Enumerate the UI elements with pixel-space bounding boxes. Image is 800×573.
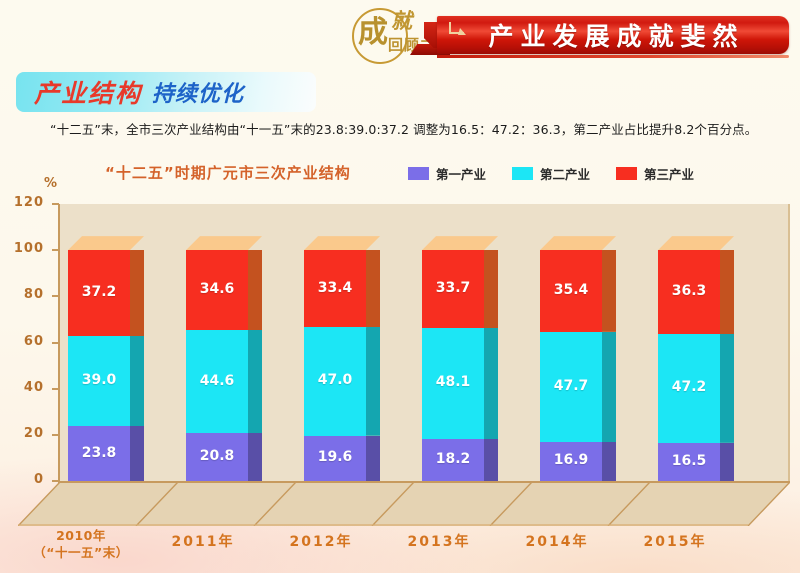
stacked-bar: 16.947.735.4: [540, 204, 602, 481]
bar-segment-side-face: [248, 250, 262, 330]
bar-segment: 39.0: [68, 336, 130, 426]
bar-segment-side-face: [720, 334, 734, 443]
bar-segment: 44.6: [186, 330, 248, 433]
bar-segment-side-face: [484, 250, 498, 328]
bar-value-label: 19.6: [304, 449, 366, 465]
y-axis-tick-mark: [52, 434, 59, 436]
legend-swatch-primary-industry: [408, 167, 429, 180]
top-banner: 成 就 回顾之二 产业发展成就斐然: [0, 0, 800, 70]
stacked-bar: 18.248.133.7: [422, 204, 484, 481]
y-axis-tick-label: 120: [0, 195, 44, 210]
bar-segment-side: [602, 442, 616, 481]
ribbon-underline: [437, 55, 789, 58]
legend-swatch-tertiary-industry: [616, 167, 637, 180]
bar-value-label: 33.7: [422, 280, 484, 296]
bar-value-label: 47.2: [658, 379, 720, 395]
bar-value-label: 47.7: [540, 378, 602, 394]
bar-segment-side: [130, 336, 144, 426]
bar-segment-side: [484, 250, 498, 328]
bar-segment-side: [248, 330, 262, 433]
chart-legend: 第一产业 第二产业 第三产业: [408, 164, 694, 183]
bar-segment-side: [484, 328, 498, 439]
bar-segment-side: [720, 250, 734, 334]
bar-segment-side-face: [484, 439, 498, 481]
chart-title: “十二五”时期广元市三次产业结构: [105, 162, 351, 183]
bar-top-cap: [68, 250, 130, 264]
body-paragraph: “十二五”末，全市三次产业结构由“十一五”末的23.8:39.0:37.2 调整…: [24, 120, 780, 140]
bar-value-label: 44.6: [186, 373, 248, 389]
section-title-primary: 产业结构: [34, 74, 142, 110]
y-axis-tick-mark: [52, 480, 59, 482]
bar-segment-side-face: [366, 436, 380, 481]
y-axis-tick-label: 0: [0, 472, 44, 487]
bar-top-cap: [658, 250, 720, 264]
bar-value-label: 35.4: [540, 282, 602, 298]
section-header-text: 产业结构 持续优化: [34, 78, 244, 106]
legend-label: 第三产业: [644, 164, 694, 183]
y-axis-tick-label: 60: [0, 334, 44, 349]
bar-segment-side: [130, 250, 144, 336]
bar-segment-side-face: [366, 250, 380, 327]
bar-segment: 47.7: [540, 332, 602, 442]
bar-value-label: 36.3: [658, 283, 720, 299]
stacked-bar: 16.547.236.3: [658, 204, 720, 481]
bar-value-label: 16.5: [658, 453, 720, 469]
floor-dividers: [18, 482, 790, 526]
bar-segment: 23.8: [68, 426, 130, 481]
x-axis-label: 2011年: [143, 531, 263, 551]
bar-segment-side: [366, 250, 380, 327]
bar-segment-side-face: [248, 433, 262, 481]
banner-title: 产业发展成就斐然: [437, 16, 789, 54]
x-axis-label-year: 2010年: [21, 527, 141, 544]
bar-segment-side: [248, 433, 262, 481]
bar-segment: 47.2: [658, 334, 720, 443]
bar-segment-side: [484, 439, 498, 481]
stacked-bar: 19.647.033.4: [304, 204, 366, 481]
bar-value-label: 34.6: [186, 281, 248, 297]
bar-segment-side-face: [602, 442, 616, 481]
x-axis-line: [58, 481, 790, 483]
bar-segment-side: [602, 332, 616, 442]
bar-segment: 48.1: [422, 328, 484, 439]
x-axis-label-year: 2014年: [497, 531, 617, 551]
bar-segment-side-face: [602, 332, 616, 442]
bar-segment: 19.6: [304, 436, 366, 481]
bar-value-label: 16.9: [540, 452, 602, 468]
bar-segment: 16.5: [658, 443, 720, 481]
bar-value-label: 18.2: [422, 451, 484, 467]
y-axis-tick-label: 100: [0, 241, 44, 256]
bar-value-label: 20.8: [186, 448, 248, 464]
bar-top-cap: [304, 250, 366, 264]
x-axis-label: 2012年: [261, 531, 381, 551]
x-axis-label: 2010年（“十一五”末）: [21, 527, 141, 561]
bar-segment: 47.0: [304, 327, 366, 435]
bar-segment: 16.9: [540, 442, 602, 481]
y-axis-tick-mark: [52, 203, 59, 205]
bar-value-label: 33.4: [304, 280, 366, 296]
plot-area-right-edge: [788, 204, 790, 482]
x-axis-label-note: （“十一五”末）: [21, 544, 141, 561]
legend-item: 第三产业: [616, 164, 694, 183]
y-axis-tick-label: 20: [0, 426, 44, 441]
x-axis-label: 2013年: [379, 531, 499, 551]
bar-value-label: 23.8: [68, 445, 130, 461]
bar-value-label: 39.0: [68, 372, 130, 388]
bar-top-cap: [540, 250, 602, 264]
y-axis-tick-mark: [52, 249, 59, 251]
bar-segment-side-face: [366, 327, 380, 435]
bar-segment-side: [720, 443, 734, 481]
seal-secondary-char: 就: [391, 10, 412, 31]
y-axis-tick-mark: [52, 295, 59, 297]
bar-top-cap: [422, 250, 484, 264]
x-axis-label-year: 2011年: [143, 531, 263, 551]
bar-segment-side: [366, 436, 380, 481]
bar-segment-side-face: [130, 426, 144, 481]
bar-segment-side: [366, 327, 380, 435]
legend-swatch-secondary-industry: [512, 167, 533, 180]
bar-segment-side-face: [248, 330, 262, 433]
seal-main-char: 成: [358, 18, 388, 48]
bar-segment-side: [720, 334, 734, 443]
y-axis-tick-label: 40: [0, 380, 44, 395]
legend-label: 第一产业: [436, 164, 486, 183]
bar-segment-side-face: [130, 250, 144, 336]
bar-segment-side-face: [602, 250, 616, 332]
bar-value-label: 48.1: [422, 374, 484, 390]
legend-label: 第二产业: [540, 164, 590, 183]
bar-segment-side-face: [720, 250, 734, 334]
bar-segment: 20.8: [186, 433, 248, 481]
y-axis-tick-mark: [52, 388, 59, 390]
stacked-bar: 23.839.037.2: [68, 204, 130, 481]
stacked-bar: 20.844.634.6: [186, 204, 248, 481]
legend-item: 第二产业: [512, 164, 590, 183]
y-axis-tick-mark: [52, 342, 59, 344]
bar-segment-side-face: [130, 336, 144, 426]
bar-segment-side-face: [484, 328, 498, 439]
bar-segment: 18.2: [422, 439, 484, 481]
x-axis-label: 2015年: [615, 531, 735, 551]
bar-value-label: 37.2: [68, 284, 130, 300]
bar-value-label: 47.0: [304, 372, 366, 388]
bar-segment-side: [248, 250, 262, 330]
y-axis-unit-label: %: [44, 176, 57, 191]
x-axis-label: 2014年: [497, 531, 617, 551]
bar-top-cap: [186, 250, 248, 264]
y-axis-tick-label: 80: [0, 287, 44, 302]
legend-item: 第一产业: [408, 164, 486, 183]
chart-3d-floor: [18, 482, 790, 526]
bar-segment-side-face: [720, 443, 734, 481]
x-axis-label-year: 2013年: [379, 531, 499, 551]
section-title-secondary: 持续优化: [152, 76, 244, 108]
x-axis-label-year: 2012年: [261, 531, 381, 551]
y-axis-line: [58, 204, 60, 483]
bar-segment-side: [130, 426, 144, 481]
bar-segment-side: [602, 250, 616, 332]
x-axis-label-year: 2015年: [615, 531, 735, 551]
